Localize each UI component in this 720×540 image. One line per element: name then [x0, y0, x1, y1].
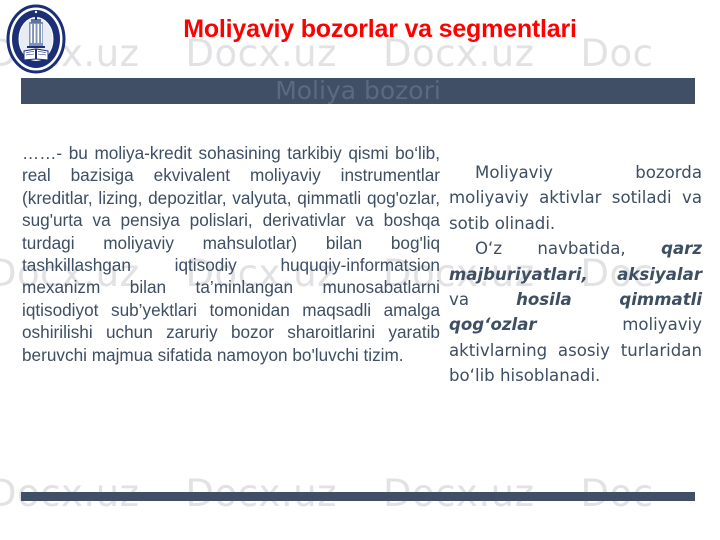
slide-title: Moliyaviy bozorlar va segmentlari	[66, 14, 694, 44]
university-seal-logo	[6, 4, 66, 74]
right-text-column: Moliyaviy bozorda moliyaviy aktivlar sot…	[449, 160, 702, 389]
right-paragraph-2: O‘z navbatida, qarz majburiyatlari, aksi…	[449, 236, 702, 388]
left-paragraph: ……- bu moliya-kredit sohasining tarkibiy…	[22, 142, 440, 366]
right-paragraph-1: Moliyaviy bozorda moliyaviy aktivlar sot…	[449, 160, 702, 236]
bottom-band	[21, 492, 695, 501]
subtitle-text: Moliya bozori	[21, 76, 695, 106]
left-text-column: ……- bu moliya-kredit sohasining tarkibiy…	[22, 142, 440, 366]
right-p2-lead: O‘z navbatida,	[475, 239, 661, 258]
slide-canvas: Docx.uz Docx.uz Docx.uz Doc Docx.uz Docx…	[0, 0, 720, 540]
right-p2-conjunction: va	[449, 290, 516, 309]
